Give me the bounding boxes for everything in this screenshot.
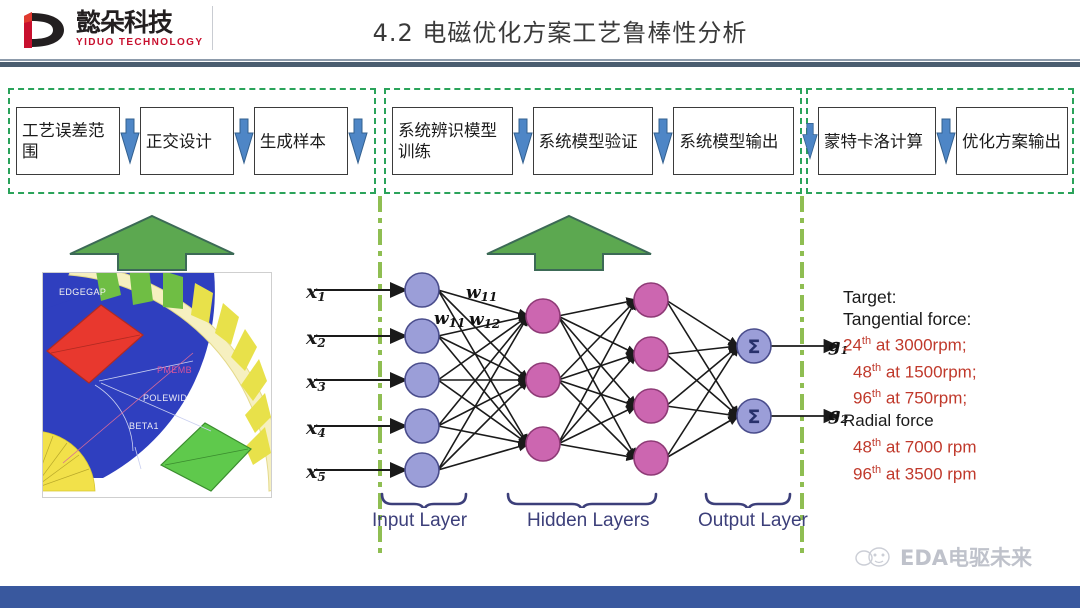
weight-label-w12: w12 (469, 310, 500, 331)
right-arrow-icon (348, 115, 368, 167)
flow-box[interactable]: 系统辨识模型训练 (392, 107, 513, 175)
hidden-node (526, 299, 560, 461)
target-title: Target: (843, 286, 1078, 308)
watermark-text: EDA电驱未来 (900, 542, 1032, 572)
neural-network-diagram: Σ Σ (286, 258, 856, 508)
sigma-symbol: Σ (748, 336, 761, 358)
flow-box-label: 系统模型验证 (539, 131, 638, 152)
header-rule (0, 62, 1080, 67)
flow-box-label: 生成样本 (260, 131, 326, 152)
radial-line: 96th at 3500 rpm (843, 459, 1078, 486)
flow-box-label: 系统模型输出 (679, 131, 778, 152)
weight-label-w11: w11 (466, 283, 497, 304)
caption-hidden-layers: Hidden Layers (527, 510, 650, 532)
svg-text:BETA1: BETA1 (129, 421, 159, 431)
flow-box-label: 优化方案输出 (962, 131, 1061, 152)
flow-box[interactable]: 优化方案输出 (956, 107, 1068, 175)
slide-header: 懿朵科技 YIDUO TECHNOLOGY 4.2 电磁优化方案工艺鲁棒性分析 (0, 0, 1080, 62)
right-arrow-icon (653, 115, 673, 167)
flow-box-label: 系统辨识模型训练 (398, 120, 507, 162)
green-up-arrow-icon (68, 214, 236, 272)
process-flow-strip: 工艺误差范围 正交设计 生成样本 系统辨识模型训练 系统模型验证 系统 (0, 88, 1080, 200)
hidden-node (634, 283, 668, 475)
right-arrow-icon (120, 115, 140, 167)
bottom-bar (0, 586, 1080, 608)
tangential-line: 48th at 1500rpm; (843, 357, 1078, 384)
page-title: 4.2 电磁优化方案工艺鲁棒性分析 (0, 13, 1080, 48)
flow-box[interactable]: 正交设计 (140, 107, 234, 175)
radial-force-title: Radial force (843, 410, 1078, 432)
right-arrow-icon (802, 115, 818, 167)
input-label-x2: x2 (306, 327, 326, 350)
caption-output-layer: Output Layer (698, 510, 808, 532)
flow-box-label: 工艺误差范围 (22, 120, 114, 162)
flow-box[interactable]: 系统模型验证 (533, 107, 654, 175)
input-label-x5: x5 (306, 461, 326, 484)
motor-cross-section-image: EDGEGAP PMEMB POLEWID BETA1 (42, 272, 272, 498)
header-rule-thin (0, 59, 1080, 61)
svg-text:PMEMB: PMEMB (157, 365, 192, 375)
target-subtitle: Tangential force: (843, 308, 1078, 330)
weight-label-w11b: w11 (434, 309, 465, 330)
flow-group-model: 系统辨识模型训练 系统模型验证 系统模型输出 (384, 88, 802, 194)
tangential-line: 24th at 3000rpm; (843, 330, 1078, 357)
flow-box[interactable]: 系统模型输出 (673, 107, 794, 175)
input-label-x4: x4 (306, 417, 326, 440)
flow-box[interactable]: 蒙特卡洛计算 (818, 107, 936, 175)
tangential-line: 96th at 750rpm; (843, 383, 1078, 410)
caption-input-layer: Input Layer (372, 510, 467, 532)
cloud-face-icon (855, 544, 897, 570)
flow-box[interactable]: 工艺误差范围 (16, 107, 120, 175)
svg-text:POLEWID: POLEWID (143, 393, 187, 403)
flow-group-optimization: 蒙特卡洛计算 优化方案输出 (806, 88, 1074, 194)
svg-text:EDGEGAP: EDGEGAP (59, 287, 106, 297)
motor-geometry: EDGEGAP PMEMB POLEWID BETA1 (43, 273, 271, 497)
flow-group-process-error: 工艺误差范围 正交设计 生成样本 (8, 88, 376, 194)
right-arrow-icon (234, 115, 254, 167)
watermark: EDA电驱未来 (855, 540, 1065, 574)
target-specification-block: Target: Tangential force: 24th at 3000rp… (843, 286, 1078, 485)
flow-box-label: 正交设计 (146, 131, 212, 152)
right-arrow-icon (936, 115, 956, 167)
sigma-symbol: Σ (748, 406, 761, 428)
flow-box[interactable]: 生成样本 (254, 107, 348, 175)
radial-line: 48th at 7000 rpm (843, 432, 1078, 459)
input-label-x1: x1 (306, 281, 326, 304)
flow-box-label: 蒙特卡洛计算 (824, 131, 923, 152)
input-label-x3: x3 (306, 371, 326, 394)
input-node (405, 273, 439, 487)
right-arrow-icon (513, 115, 533, 167)
